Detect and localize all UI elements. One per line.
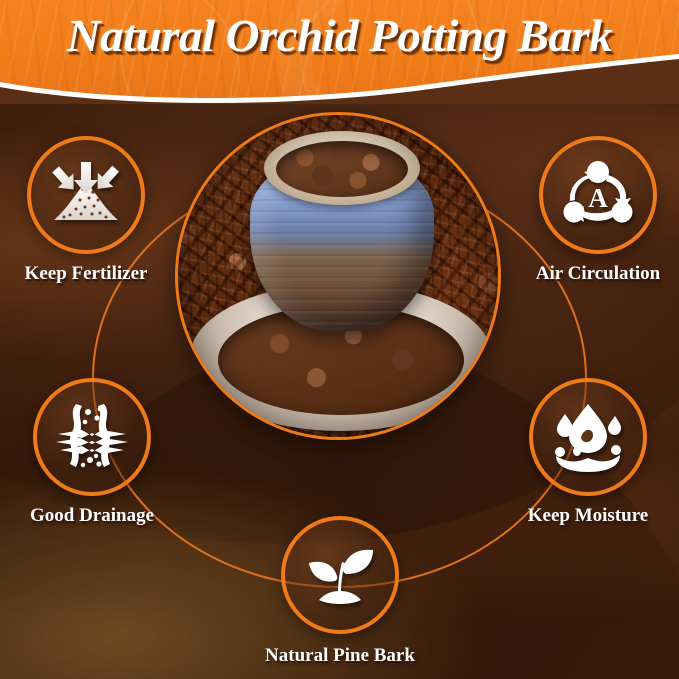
page-title: Natural Orchid Potting Bark [0,0,679,59]
feature-icon-circle [529,378,647,496]
feature-label: Natural Pine Bark [260,646,420,667]
svg-text:A: A [588,183,608,213]
feature-icon-circle [33,378,151,496]
feature-keep-moisture: Keep Moisture [508,378,668,527]
feature-icon-circle [281,516,399,634]
pot-bark-fill [276,141,408,197]
feature-icon-circle: A [539,136,657,254]
seedling-sprout-icon [301,544,379,606]
feature-icon-circle [27,136,145,254]
product-photo [175,112,501,440]
water-droplet-basin-icon [550,402,626,472]
header-banner: Natural Orchid Potting Bark [0,0,679,104]
feature-label: Keep Moisture [508,506,668,527]
ceramic-orchid-pot [244,131,440,339]
feature-label: Keep Fertilizer [6,264,166,285]
feature-label: Good Drainage [12,506,172,527]
fertilizer-mound-arrows-icon [48,162,124,228]
feature-label: Air Circulation [518,264,678,285]
infographic-banner: Keep Fertilizer [0,0,679,679]
feature-keep-fertilizer: Keep Fertilizer [6,136,166,285]
drainage-layers-icon [52,402,132,472]
air-circulation-icon: A [561,159,635,231]
feature-air-circulation: A Air Circulation [518,136,678,285]
feature-natural-pine-bark: Natural Pine Bark [260,516,420,667]
feature-good-drainage: Good Drainage [12,378,172,527]
